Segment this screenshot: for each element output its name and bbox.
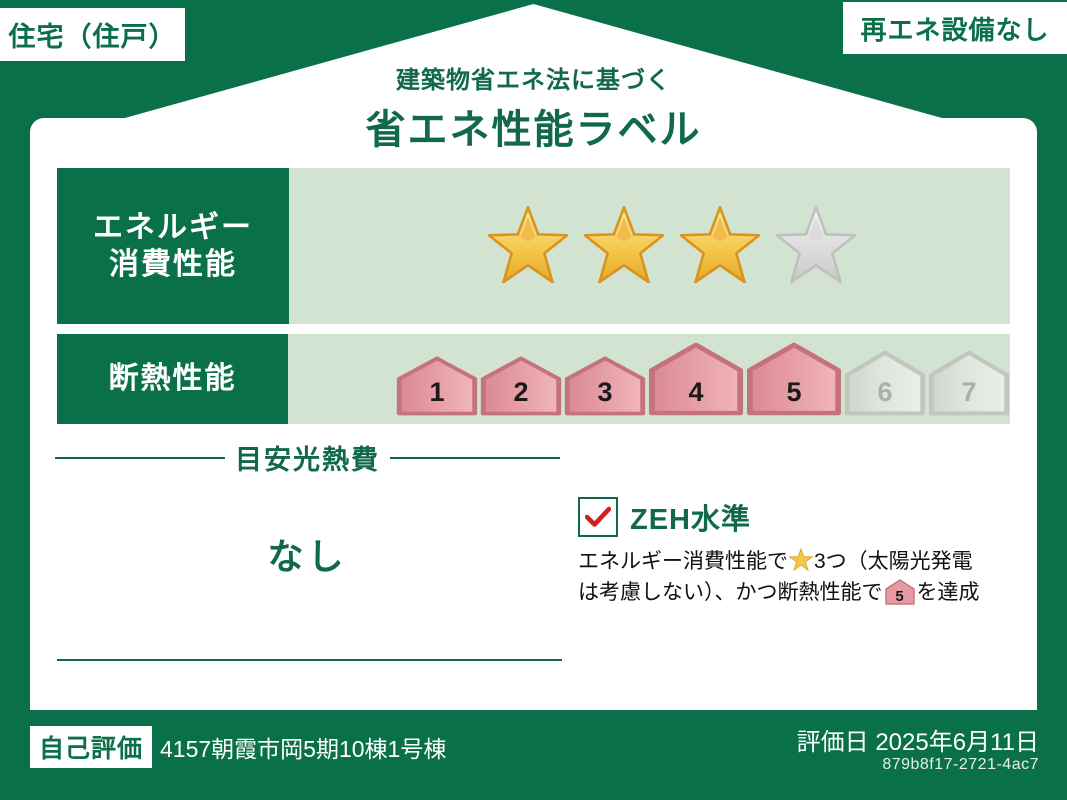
insulation-level-4: 4 (648, 342, 744, 416)
badge-renewable-energy: 再エネ設備なし (843, 2, 1067, 54)
row-energy-label-line2: 消費性能 (109, 246, 237, 284)
zeh-header: ZEH水準 (578, 496, 1018, 538)
inline-house-icon: 5 (885, 579, 915, 605)
row-insulation-label-line1: 断熱性能 (109, 360, 237, 398)
row-insulation-body: 1234567 (288, 334, 1010, 424)
star-filled-icon (677, 203, 763, 289)
zeh-desc-part2: は考慮しない）、かつ断熱性能で (578, 581, 883, 604)
zeh-standard-block: ZEH水準 エネルギー消費性能で 3つ（太陽光発電 は考慮しない）、かつ断熱性能… (578, 496, 1018, 608)
utility-cost-title: 目安光熱費 (235, 438, 380, 477)
zeh-desc-part1: エネルギー消費性能で (578, 550, 788, 573)
star-filled-icon (581, 203, 667, 289)
utility-cost-value: なし (55, 528, 560, 580)
footer-bar: 自己評価 4157朝霞市岡5期10棟1号棟 評価日 2025年6月11日 879… (0, 710, 1067, 800)
star-empty-icon (773, 203, 859, 289)
insulation-level-6: 6 (844, 350, 926, 416)
energy-performance-label: 住宅（住戸） 再エネ設備なし 建築物省エネ法に基づく 省エネ性能ラベル エネルギ… (0, 0, 1067, 800)
row-energy-performance: エネルギー 消費性能 (57, 168, 1010, 324)
house-filled-icon (480, 356, 562, 416)
insulation-level-3: 3 (564, 356, 646, 416)
divider-right (390, 457, 560, 459)
house-filled-icon (564, 356, 646, 416)
badge-building-type: 住宅（住戸） (0, 8, 185, 61)
star-rating (485, 203, 859, 289)
utility-cost-bottom-rule (57, 659, 562, 661)
insulation-level-1: 1 (396, 356, 478, 416)
insulation-level-7: 7 (928, 350, 1010, 416)
star-filled-icon (485, 203, 571, 289)
divider-left (55, 457, 225, 459)
insulation-level-scale: 1234567 (396, 342, 1010, 416)
footer-property-name: 4157朝霞市岡5期10棟1号棟 (160, 730, 446, 764)
insulation-level-2: 2 (480, 356, 562, 416)
inline-star-icon (789, 548, 813, 572)
zeh-description: エネルギー消費性能で 3つ（太陽光発電 は考慮しない）、かつ断熱性能で 5 を達… (578, 546, 1018, 608)
badge-renewable-energy-label: 再エネ設備なし (860, 10, 1049, 47)
insulation-level-5: 5 (746, 342, 842, 416)
zeh-desc-part3: を達成 (917, 581, 980, 604)
inline-house-level: 5 (885, 589, 915, 604)
house-filled-icon (396, 356, 478, 416)
footer-evaluation-date: 評価日 2025年6月11日 (797, 722, 1039, 757)
house-filled-icon (746, 342, 842, 416)
badge-building-type-label: 住宅（住戸） (9, 15, 177, 54)
row-insulation-label: 断熱性能 (57, 334, 288, 424)
house-empty-icon (844, 350, 926, 416)
check-icon (578, 497, 618, 537)
utility-cost-header: 目安光熱費 (55, 438, 560, 477)
zeh-title: ZEH水準 (630, 496, 751, 538)
row-energy-body (289, 168, 1010, 324)
house-filled-icon (648, 342, 744, 416)
row-energy-label-line1: エネルギー (93, 209, 253, 247)
row-energy-label: エネルギー 消費性能 (57, 168, 289, 324)
footer-label-id: 879b8f17-2721-4ac7 (882, 756, 1039, 774)
house-empty-icon (928, 350, 1010, 416)
zeh-desc-stars: 3つ（太陽光発電 (814, 550, 973, 573)
row-insulation-performance: 断熱性能 1234567 (57, 334, 1010, 424)
footer-evaluation-type: 自己評価 (30, 726, 152, 768)
